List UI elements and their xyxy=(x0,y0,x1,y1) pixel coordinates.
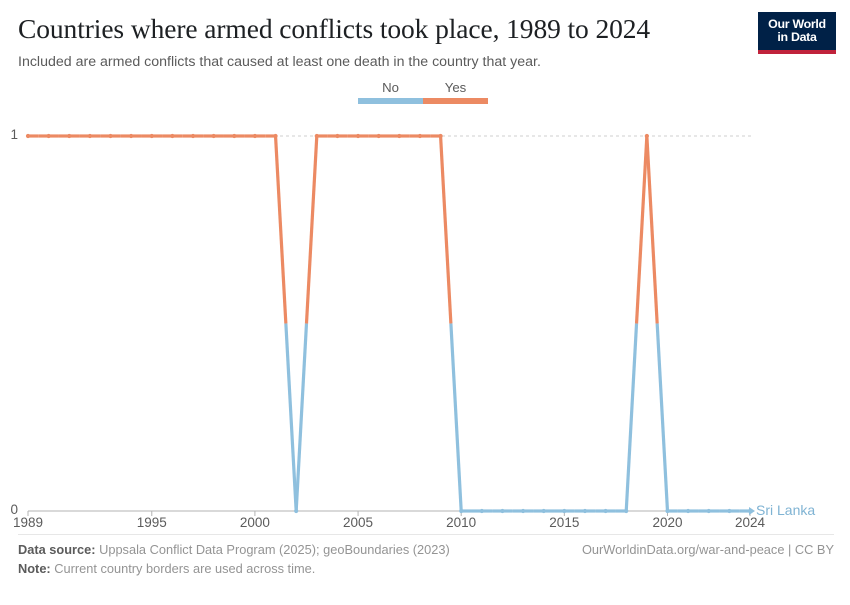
chart-canvas xyxy=(0,0,850,600)
attribution-link[interactable]: OurWorldinData.org/war-and-peace | CC BY xyxy=(582,542,834,557)
x-tick-label-1989: 1989 xyxy=(0,515,58,530)
data-source-text: Data source: Uppsala Conflict Data Progr… xyxy=(18,542,450,557)
x-tick-label-1995: 1995 xyxy=(122,515,182,530)
x-tick-label-2010: 2010 xyxy=(431,515,491,530)
x-tick-label-2020: 2020 xyxy=(637,515,697,530)
note-label: Note: xyxy=(18,561,51,576)
x-tick-label-2000: 2000 xyxy=(225,515,285,530)
note-value: Current country borders are used across … xyxy=(51,561,316,576)
x-tick-label-2024: 2024 xyxy=(720,515,780,530)
x-tick-label-2005: 2005 xyxy=(328,515,388,530)
footer-row-note: Note: Current country borders are used a… xyxy=(18,561,834,580)
data-source-value: Uppsala Conflict Data Program (2025); ge… xyxy=(96,542,450,557)
x-tick-label-2015: 2015 xyxy=(534,515,594,530)
data-source-label: Data source: xyxy=(18,542,96,557)
chart-footer: Data source: Uppsala Conflict Data Progr… xyxy=(18,542,834,580)
plot-area: Sri Lanka 101989199520002005201020152020… xyxy=(0,0,850,600)
y-tick-label-1: 1 xyxy=(2,127,18,142)
footer-divider xyxy=(18,534,834,535)
note-text: Note: Current country borders are used a… xyxy=(18,561,315,576)
footer-row-source: Data source: Uppsala Conflict Data Progr… xyxy=(18,542,834,561)
owid-chart: Countries where armed conflicts took pla… xyxy=(0,0,850,600)
